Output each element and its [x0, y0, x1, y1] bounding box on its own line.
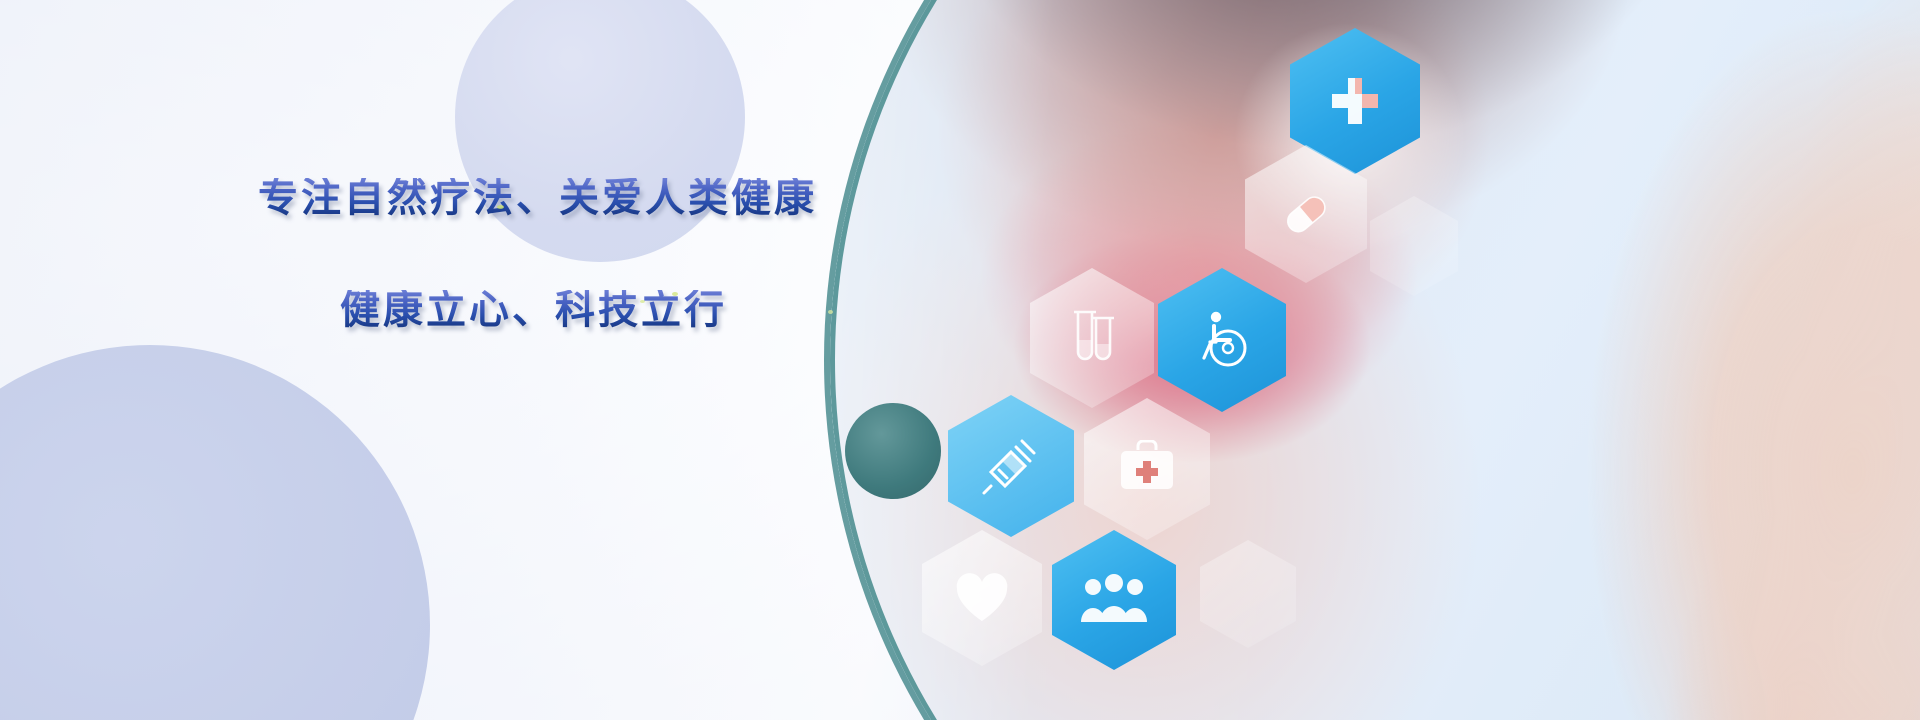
hex-syringe[interactable]	[948, 395, 1074, 537]
sparkle-speck	[640, 300, 645, 303]
family-group-icon	[1079, 574, 1149, 626]
medical-cross-icon	[1324, 70, 1386, 132]
hex-family-group[interactable]	[1052, 530, 1176, 670]
syringe-icon	[978, 433, 1044, 499]
capsule-pill-icon	[1271, 179, 1341, 249]
sparkle-speck	[497, 205, 504, 209]
first-aid-kit-icon	[1116, 440, 1178, 498]
headline-block: 专注自然疗法、关爱人类健康 健康立心、科技立行	[258, 178, 818, 330]
heart-icon	[953, 571, 1011, 625]
headline-line-2: 健康立心、科技立行	[340, 290, 818, 330]
healthcare-hero-banner: 专注自然疗法、关爱人类健康 健康立心、科技立行	[0, 0, 1920, 720]
test-tubes-icon	[1062, 304, 1122, 372]
headline-line-1: 专注自然疗法、关爱人类健康	[258, 178, 818, 218]
hex-icon-cluster	[900, 0, 1540, 720]
hex-heart[interactable]	[922, 530, 1042, 666]
sparkle-speck	[672, 292, 678, 296]
hex-test-tubes[interactable]	[1030, 268, 1154, 408]
hex-wheelchair[interactable]	[1158, 268, 1286, 412]
sparkle-speck	[828, 310, 833, 314]
hex-decorative-small	[1200, 540, 1296, 648]
hex-first-aid-kit[interactable]	[1084, 398, 1210, 540]
wheelchair-icon	[1190, 308, 1254, 372]
